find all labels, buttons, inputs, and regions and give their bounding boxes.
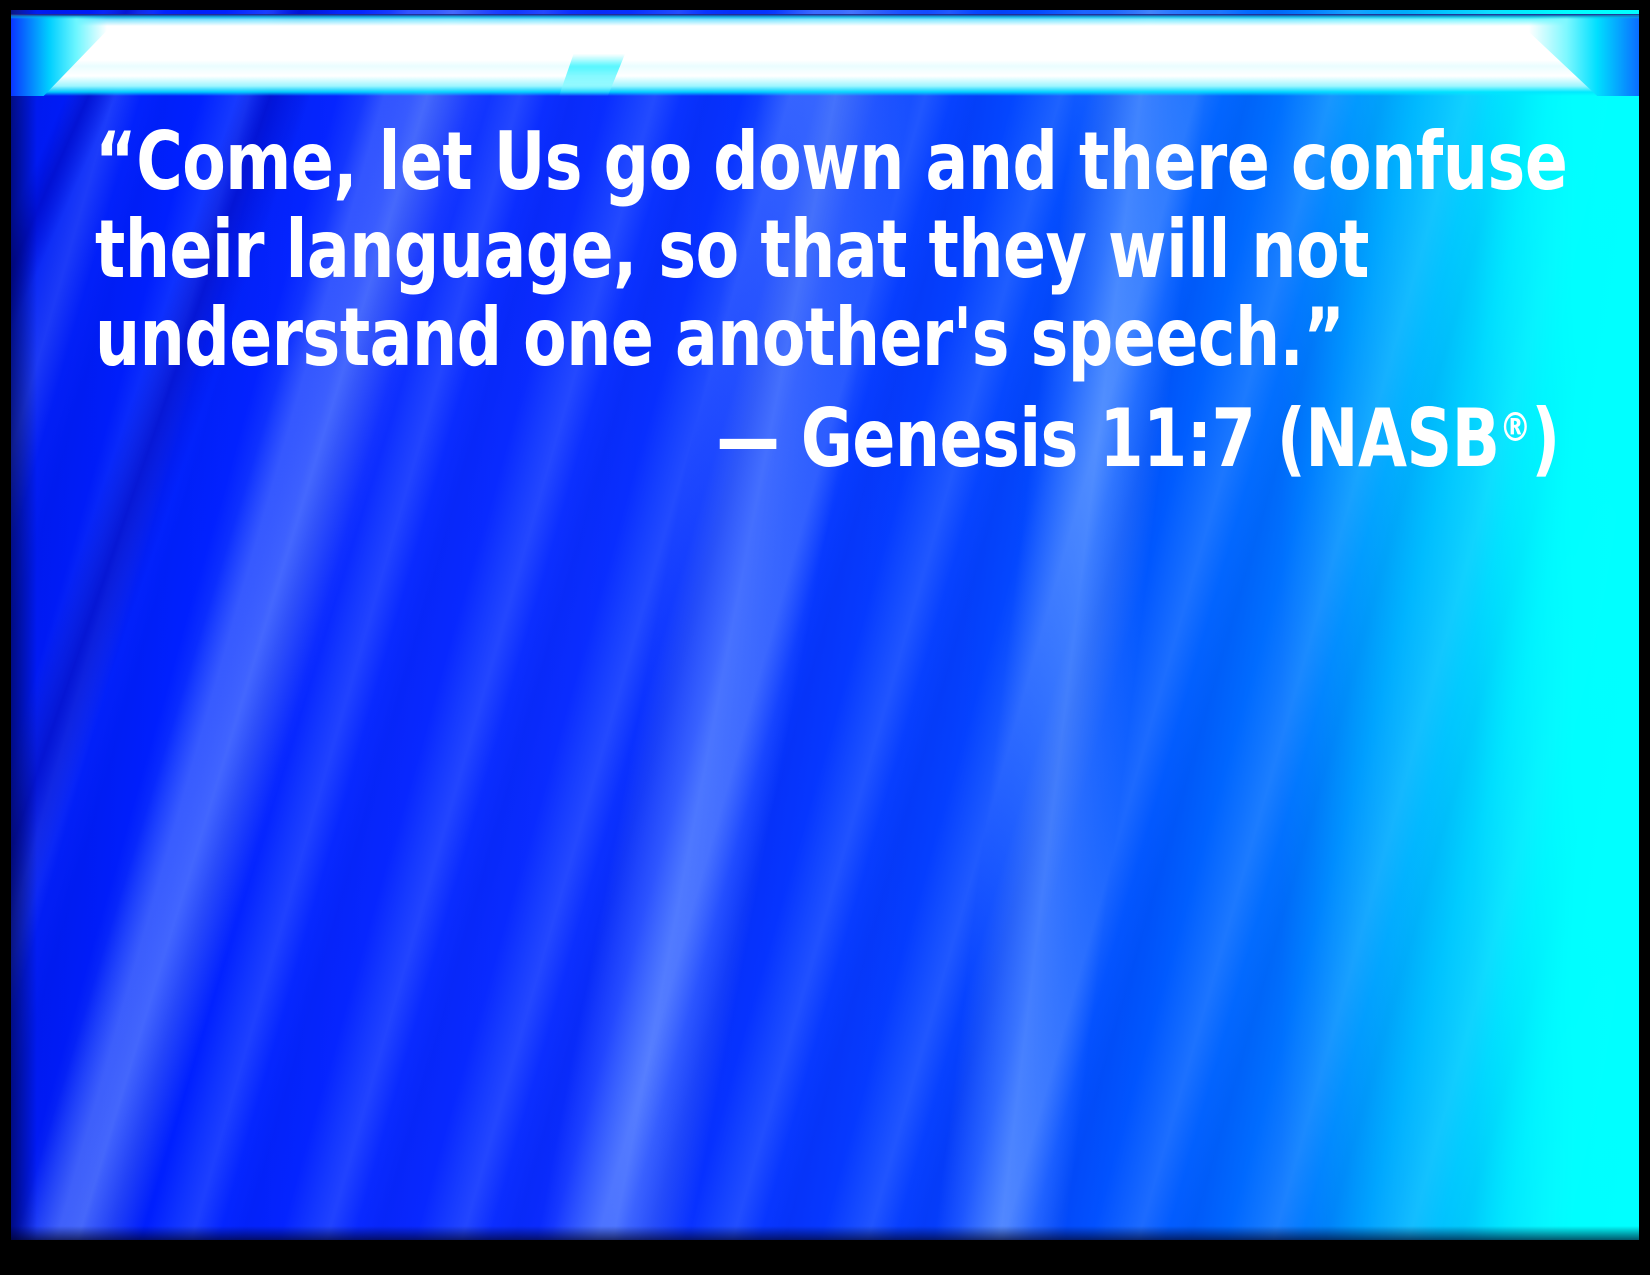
attribution-book: Genesis — [801, 392, 1078, 485]
attribution-spacer-3 — [1255, 392, 1277, 485]
verse-attribution: — Genesis 11:7 (NASB®) — [271, 382, 1565, 485]
attribution-spacer-2 — [1078, 392, 1100, 485]
attribution-em-dash: — — [716, 392, 779, 485]
slide-artboard: “Come, let Us go down and there confuse … — [11, 10, 1639, 1240]
verse-line-1: “Come, let Us go down and there confuse — [95, 118, 1389, 206]
attribution-spacer-1 — [779, 392, 801, 485]
verse-line-2: their language, so that they will not — [95, 206, 1389, 294]
attribution-translation-close: ) — [1531, 392, 1560, 485]
verse-line-3: understand one another's speech.” — [95, 294, 1389, 382]
verse-text-block: “Come, let Us go down and there confuse … — [95, 118, 1565, 485]
registered-trademark-icon: ® — [1500, 405, 1532, 451]
attribution-chapter-verse: 11:7 — [1099, 392, 1255, 485]
top-highlight-band — [11, 14, 1639, 96]
scripture-slide: “Come, let Us go down and there confuse … — [0, 0, 1650, 1275]
attribution-translation-open: (NASB — [1277, 392, 1500, 485]
band-top-rule — [11, 14, 1639, 19]
band-white-glow — [11, 14, 1639, 96]
